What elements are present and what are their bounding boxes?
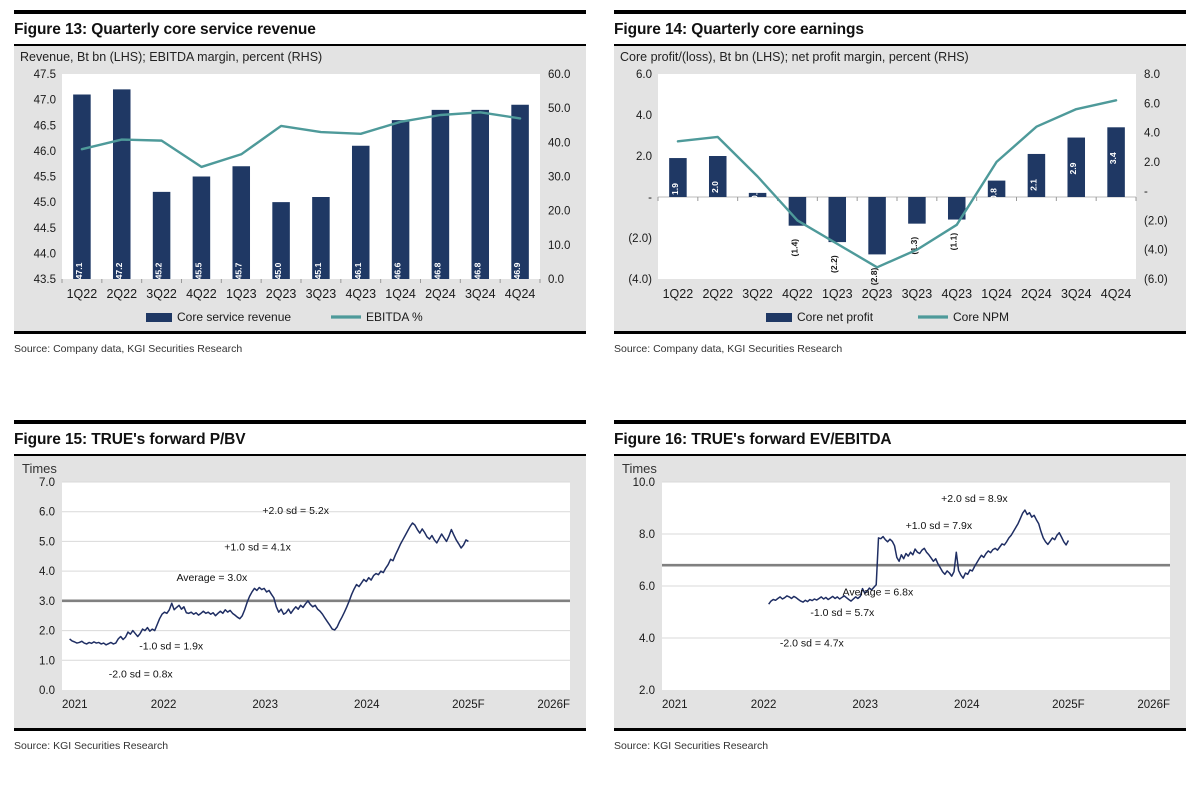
- chart-text: 46.0: [34, 145, 56, 157]
- chart-text: 2.9: [1068, 162, 1078, 174]
- chart-text: 20.0: [548, 205, 570, 217]
- chart-text: 2022: [151, 699, 177, 711]
- chart-text: 2025F: [1052, 699, 1085, 711]
- fig14-source: Source: Company data, KGI Securities Res…: [614, 334, 1186, 355]
- fig16-chart: 10.08.06.04.02.0+2.0 sd = 8.9x+1.0 sd = …: [614, 476, 1184, 728]
- chart-text: 0.0: [548, 274, 564, 286]
- chart-text: -1.0 sd = 1.9x: [139, 640, 204, 652]
- chart-text: -: [648, 192, 652, 204]
- chart-text: (2.8): [869, 267, 879, 285]
- bar: [828, 197, 846, 242]
- chart-text: 4Q24: [505, 287, 536, 301]
- chart-text: (2.0): [1144, 215, 1168, 227]
- chart-text: 2.0: [710, 180, 720, 192]
- chart-text: 46.1: [353, 262, 363, 279]
- fig16-top-rule: [614, 420, 1186, 424]
- chart-text: 3.4: [1108, 152, 1118, 164]
- chart-text: 4.0: [1144, 127, 1160, 139]
- chart-text: 2Q24: [1021, 287, 1052, 301]
- fig14-subtitle: Core profit/(loss), Bt bn (LHS); net pro…: [614, 46, 1186, 66]
- fig16-source: Source: KGI Securities Research: [614, 731, 1186, 752]
- fig13-chart: 47.547.046.546.045.545.044.544.043.560.0…: [14, 66, 584, 331]
- chart-text: 1.9: [670, 182, 680, 194]
- chart-text: 2.1: [1028, 178, 1038, 190]
- figure-13-panel: Figure 13: Quarterly core service revenu…: [0, 0, 600, 410]
- chart-text: 45.7: [233, 262, 243, 279]
- chart-text: 43.5: [34, 274, 56, 286]
- bar: [352, 145, 370, 278]
- chart-text: 4Q22: [186, 287, 217, 301]
- fig15-title: Figure 15: TRUE's forward P/BV: [14, 431, 586, 454]
- chart-text: 45.2: [154, 262, 164, 279]
- legend-swatch-bar: [766, 313, 792, 322]
- chart-text: 2024: [954, 699, 980, 711]
- chart-text: 45.0: [273, 262, 283, 279]
- chart-text: 4Q23: [941, 287, 972, 301]
- fig15-yaxis-unit: Times: [14, 456, 586, 476]
- bar: [908, 197, 926, 224]
- chart-text: 4Q24: [1101, 287, 1132, 301]
- chart-text: 1Q24: [981, 287, 1012, 301]
- chart-text: (4.0): [628, 274, 652, 286]
- chart-text: 44.0: [34, 248, 56, 260]
- chart-text: 2021: [62, 699, 88, 711]
- fig14-chart: 6.04.02.0-(2.0)(4.0)8.06.04.02.0-(2.0)(4…: [614, 66, 1184, 331]
- chart-text: 60.0: [548, 69, 570, 81]
- chart-text: 4.0: [39, 566, 55, 578]
- chart-text: 2022: [751, 699, 777, 711]
- chart-text: 47.1: [74, 262, 84, 279]
- chart-text: 0.0: [39, 685, 55, 697]
- chart-text: 2.0: [1144, 156, 1160, 168]
- chart-text: 2.0: [39, 625, 55, 637]
- chart-text: 1Q22: [663, 287, 694, 301]
- chart-text: 4Q22: [782, 287, 813, 301]
- chart-text: Average = 3.0x: [176, 571, 247, 583]
- fig15-chart: 7.06.05.04.03.02.01.00.0+2.0 sd = 5.2x+1…: [14, 476, 584, 728]
- chart-text: 3Q24: [1061, 287, 1092, 301]
- figure-16-panel: Figure 16: TRUE's forward EV/EBITDA Time…: [600, 410, 1200, 796]
- chart-text: Core NPM: [953, 310, 1009, 324]
- chart-text: 1Q23: [822, 287, 853, 301]
- chart-text: 1Q23: [226, 287, 257, 301]
- chart-text: Average = 6.8x: [843, 586, 914, 598]
- chart-text: 2Q22: [702, 287, 733, 301]
- chart-text: +1.0 sd = 4.1x: [224, 541, 291, 553]
- chart-text: 2Q22: [106, 287, 137, 301]
- chart-text: (6.0): [1144, 274, 1168, 286]
- chart-text: 8.0: [1144, 69, 1160, 81]
- chart-text: 46.8: [472, 262, 482, 279]
- chart-text: +2.0 sd = 5.2x: [262, 505, 329, 517]
- chart-text: 2021: [662, 699, 688, 711]
- chart-text: 46.9: [512, 262, 522, 279]
- chart-text: 46.8: [432, 262, 442, 279]
- chart-text: 2Q23: [266, 287, 297, 301]
- bar: [73, 94, 91, 279]
- chart-text: -1.0 sd = 5.7x: [810, 607, 875, 619]
- chart-text: 6.0: [39, 506, 55, 518]
- fig13-source: Source: Company data, KGI Securities Res…: [14, 334, 586, 355]
- chart-text: (2.0): [628, 233, 652, 245]
- fig16-yaxis-unit: Times: [614, 456, 1186, 476]
- chart-text: 4Q23: [345, 287, 376, 301]
- chart-text: 6.0: [639, 581, 655, 593]
- chart-text: Core net profit: [797, 310, 874, 324]
- fig15-chart-box: Times 7.06.05.04.03.02.01.00.0+2.0 sd = …: [14, 456, 586, 728]
- chart-text: -2.0 sd = 4.7x: [780, 637, 845, 649]
- chart-text: 2023: [852, 699, 878, 711]
- chart-text: 2.0: [639, 685, 655, 697]
- chart-text: 6.0: [636, 69, 652, 81]
- bar: [113, 89, 131, 279]
- chart-text: 4.0: [636, 110, 652, 122]
- chart-text: 2024: [354, 699, 380, 711]
- chart-text: 30.0: [548, 171, 570, 183]
- chart-text: 8.0: [639, 529, 655, 541]
- figure-14-panel: Figure 14: Quarterly core earnings Core …: [600, 0, 1200, 410]
- fig14-title: Figure 14: Quarterly core earnings: [614, 21, 1186, 44]
- plot-area: [62, 74, 540, 279]
- chart-text: 45.1: [313, 262, 323, 279]
- chart-text: 4.0: [639, 633, 655, 645]
- chart-text: 2026F: [1137, 699, 1170, 711]
- chart-text: 2026F: [537, 699, 570, 711]
- bar: [432, 109, 450, 278]
- figure-15-panel: Figure 15: TRUE's forward P/BV Times 7.0…: [0, 410, 600, 796]
- chart-text: 3Q23: [306, 287, 337, 301]
- figures-page: Figure 13: Quarterly core service revenu…: [0, 0, 1200, 796]
- chart-text: 10.0: [548, 239, 570, 251]
- chart-text: (2.2): [829, 255, 839, 273]
- chart-text: 46.5: [34, 120, 56, 132]
- chart-text: +1.0 sd = 7.9x: [906, 519, 973, 531]
- chart-text: 45.0: [34, 197, 56, 209]
- chart-text: 1Q22: [67, 287, 98, 301]
- chart-text: 3Q23: [902, 287, 933, 301]
- chart-text: 1.0: [39, 655, 55, 667]
- chart-text: 3.0: [39, 595, 55, 607]
- chart-text: 50.0: [548, 103, 570, 115]
- chart-text: 44.5: [34, 222, 56, 234]
- chart-text: 0.2: [750, 187, 760, 199]
- chart-text: (1.4): [789, 238, 799, 256]
- chart-text: 2Q23: [862, 287, 893, 301]
- bar: [868, 197, 886, 254]
- chart-text: 6.0: [1144, 98, 1160, 110]
- chart-text: 47.5: [34, 69, 56, 81]
- chart-text: 3Q24: [465, 287, 496, 301]
- chart-text: 2Q24: [425, 287, 456, 301]
- chart-text: 5.0: [39, 536, 55, 548]
- chart-text: EBITDA %: [366, 310, 423, 324]
- chart-text: 10.0: [633, 477, 655, 489]
- legend-swatch-bar: [146, 313, 172, 322]
- fig13-title: Figure 13: Quarterly core service revenu…: [14, 21, 586, 44]
- fig13-top-rule: [14, 10, 586, 14]
- chart-text: -: [1144, 186, 1148, 198]
- chart-text: (1.1): [949, 232, 959, 250]
- chart-text: Core service revenue: [177, 310, 291, 324]
- fig14-top-rule: [614, 10, 1186, 14]
- chart-text: 47.0: [34, 94, 56, 106]
- chart-text: 45.5: [34, 171, 56, 183]
- chart-text: 2.0: [636, 151, 652, 163]
- fig13-subtitle: Revenue, Bt bn (LHS); EBITDA margin, per…: [14, 46, 586, 66]
- bar: [232, 166, 250, 279]
- chart-text: -2.0 sd = 0.8x: [109, 668, 174, 680]
- chart-text: (4.0): [1144, 244, 1168, 256]
- fig14-chart-box: Core profit/(loss), Bt bn (LHS); net pro…: [614, 46, 1186, 331]
- chart-text: 2023: [252, 699, 278, 711]
- chart-text: 3Q22: [146, 287, 177, 301]
- chart-text: 2025F: [452, 699, 485, 711]
- fig16-title: Figure 16: TRUE's forward EV/EBITDA: [614, 431, 1186, 454]
- fig15-top-rule: [14, 420, 586, 424]
- plot-area: [658, 74, 1136, 279]
- chart-text: 40.0: [548, 137, 570, 149]
- chart-text: 46.6: [393, 262, 403, 279]
- fig16-chart-box: Times 10.08.06.04.02.0+2.0 sd = 8.9x+1.0…: [614, 456, 1186, 728]
- chart-text: 47.2: [114, 262, 124, 279]
- chart-text: 3Q22: [742, 287, 773, 301]
- bar: [471, 109, 489, 278]
- bar: [392, 120, 410, 279]
- fig15-source: Source: KGI Securities Research: [14, 731, 586, 752]
- chart-text: 0.8: [989, 187, 999, 199]
- bar: [511, 104, 529, 278]
- chart-text: 45.5: [193, 262, 203, 279]
- chart-text: 7.0: [39, 477, 55, 489]
- chart-text: 1Q24: [385, 287, 416, 301]
- chart-text: +2.0 sd = 8.9x: [941, 492, 1008, 504]
- fig13-chart-box: Revenue, Bt bn (LHS); EBITDA margin, per…: [14, 46, 586, 331]
